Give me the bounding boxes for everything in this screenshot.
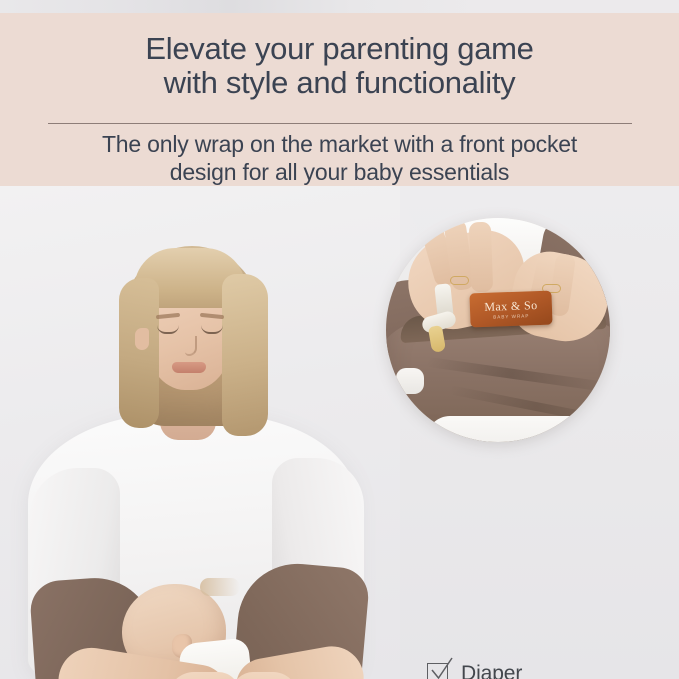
inset-finger [469, 222, 493, 293]
header-banner: Elevate your parenting game with style a… [0, 13, 679, 186]
check-icon [429, 657, 455, 679]
top-edge-strip [0, 0, 679, 13]
inset-ring [450, 276, 469, 285]
headline: Elevate your parenting game with style a… [0, 32, 679, 100]
subheadline: The only wrap on the market with a front… [0, 130, 679, 186]
main-photo: Max & So BABY WRAP [0, 186, 400, 679]
product-infographic: Elevate your parenting game with style a… [0, 0, 679, 679]
mother-hair-right [222, 274, 268, 436]
inset-cuff [396, 368, 424, 394]
checkbox-diaper[interactable] [427, 663, 448, 679]
header-divider [48, 123, 632, 124]
baby-hair [200, 578, 240, 596]
mouth [172, 362, 206, 373]
brand-patch-inset: Max & So BABY WRAP [469, 291, 552, 328]
pocket-closeup-inset: Max & So BABY WRAP [386, 218, 610, 442]
nose [185, 336, 197, 356]
checklist-item[interactable]: Diaper [427, 652, 667, 679]
essentials-checklist: Diaper Pacifier Toy [427, 652, 667, 679]
mother-hair-left [119, 278, 159, 428]
checklist-label: Diaper [461, 663, 522, 679]
inset-lower-shirt [426, 416, 606, 442]
photo-stage: Max & So BABY WRAP [0, 186, 679, 679]
mother-ear [135, 328, 149, 350]
